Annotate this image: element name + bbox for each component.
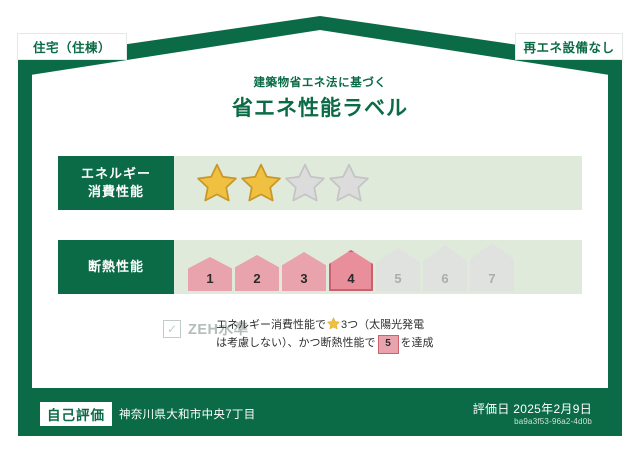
star-empty-icon <box>284 162 326 204</box>
insulation-step-number: 5 <box>394 271 401 291</box>
zeh-and-note-area: ✓ ZEH水準 エネルギー消費性能で3つ（太陽光発電 は考慮しない）、かつ断熱性… <box>58 312 582 370</box>
insulation-performance-row: 断熱性能 1234567 <box>58 240 582 294</box>
building-type-tag: 住宅（住棟） <box>18 34 126 59</box>
insulation-step-1: 1 <box>188 257 232 291</box>
insulation-step-7: 7 <box>470 243 514 291</box>
label-title: 省エネ性能ラベル <box>18 92 622 122</box>
zeh-checkbox-icon: ✓ <box>163 320 181 338</box>
renewable-equipment-tag: 再エネ設備なし <box>516 34 622 59</box>
insulation-performance-row-label: 断熱性能 <box>58 240 174 294</box>
footer-left-group: 自己評価 神奈川県大和市中央7丁目 <box>18 402 473 426</box>
criteria-note-line1: エネルギー消費性能で3つ（太陽光発電 <box>216 316 582 334</box>
note-line2-suffix: を達成 <box>401 337 434 349</box>
note-level-badge: 5 <box>378 335 399 354</box>
note-line2-prefix: は考慮しない）、かつ断熱性能で <box>216 337 376 349</box>
energy-label-line2: 消費性能 <box>88 183 144 201</box>
energy-performance-label-card: 住宅（住棟） 再エネ設備なし 建築物省エネ法に基づく 省エネ性能ラベル エネルギ… <box>18 16 622 436</box>
criteria-note-text: エネルギー消費性能で3つ（太陽光発電 は考慮しない）、かつ断熱性能で5を達成 <box>208 312 582 354</box>
property-address: 神奈川県大和市中央7丁目 <box>119 406 256 422</box>
insulation-step-number: 2 <box>253 271 260 291</box>
energy-performance-row-value <box>174 156 582 210</box>
energy-label-line1: エネルギー <box>81 165 151 183</box>
insulation-step-number: 6 <box>441 271 448 291</box>
insulation-step-4: 4 <box>329 250 373 291</box>
insulation-step-number: 7 <box>488 271 495 291</box>
label-subtitle: 建築物省エネ法に基づく <box>18 74 622 90</box>
self-evaluation-badge: 自己評価 <box>40 402 112 426</box>
star-filled-icon <box>240 162 282 204</box>
insulation-step-scale: 1234567 <box>188 243 514 291</box>
criteria-note-line2: は考慮しない）、かつ断熱性能で5を達成 <box>216 334 582 354</box>
insulation-step-5: 5 <box>376 248 420 291</box>
insulation-step-6: 6 <box>423 245 467 291</box>
insulation-step-number: 4 <box>347 271 354 291</box>
note-line1-prefix: エネルギー消費性能で <box>216 319 326 331</box>
note-line1-suffix: 3つ（太陽光発電 <box>341 319 424 331</box>
footer-right-group: 評価日 2025年2月9日 ba9a3f53-96a2-4d0b <box>473 402 622 427</box>
star-filled-icon <box>196 162 238 204</box>
zeh-standard-block: ✓ ZEH水準 <box>58 312 208 339</box>
insulation-step-2: 2 <box>235 255 279 291</box>
insulation-step-number: 3 <box>300 271 307 291</box>
insulation-step-number: 1 <box>206 271 213 291</box>
insulation-step-3: 3 <box>282 252 326 291</box>
label-footer: 自己評価 神奈川県大和市中央7丁目 評価日 2025年2月9日 ba9a3f53… <box>18 392 622 436</box>
energy-performance-row-label: エネルギー 消費性能 <box>58 156 174 210</box>
label-title-block: 建築物省エネ法に基づく 省エネ性能ラベル <box>18 74 622 122</box>
evaluation-id: ba9a3f53-96a2-4d0b <box>473 417 592 427</box>
evaluation-date: 評価日 2025年2月9日 <box>473 402 592 417</box>
star-empty-icon <box>328 162 370 204</box>
insulation-performance-row-value: 1234567 <box>174 240 582 294</box>
energy-performance-row: エネルギー 消費性能 <box>58 156 582 210</box>
star-rating <box>196 162 370 204</box>
note-star-icon <box>327 317 340 330</box>
